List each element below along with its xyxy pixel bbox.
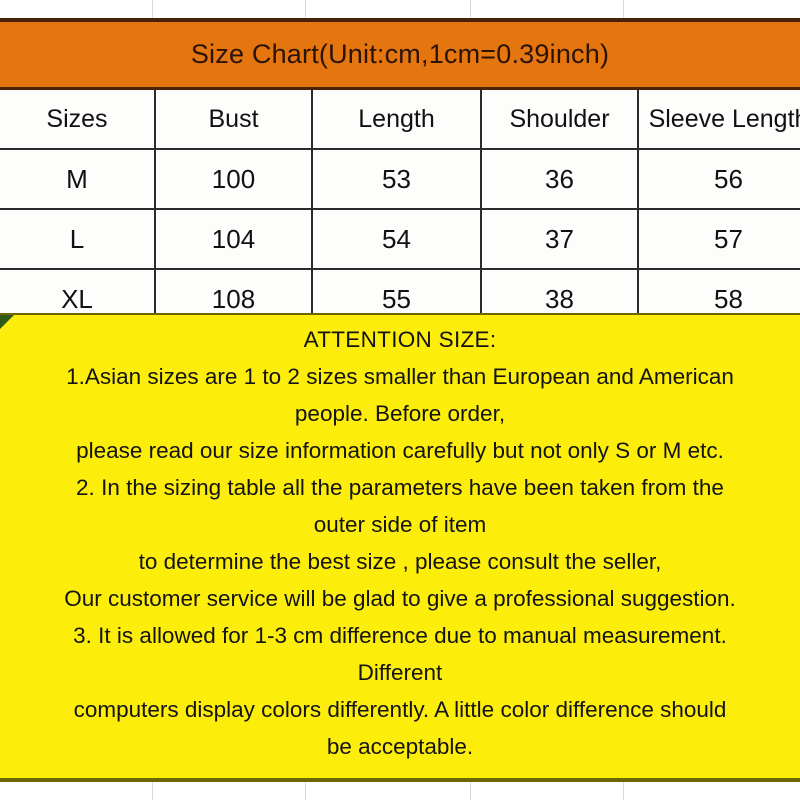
attention-line: to determine the best size , please cons…	[0, 543, 800, 580]
attention-line: please read our size information careful…	[0, 432, 800, 469]
attention-line: 3. It is allowed for 1-3 cm difference d…	[0, 617, 800, 654]
attention-line: people. Before order,	[0, 395, 800, 432]
gridline	[305, 0, 306, 18]
bottom-gridline-strip	[0, 782, 800, 800]
attention-line: 1.Asian sizes are 1 to 2 sizes smaller t…	[0, 358, 800, 395]
column-header-sleeve-length: Sleeve Length	[638, 90, 800, 149]
column-header-bust: Bust	[155, 90, 312, 149]
column-header-length: Length	[312, 90, 481, 149]
size-chart-page: Size Chart(Unit:cm,1cm=0.39inch) Sizes B…	[0, 0, 800, 800]
attention-line: 2. In the sizing table all the parameter…	[0, 469, 800, 506]
size-chart-banner: Size Chart(Unit:cm,1cm=0.39inch)	[0, 18, 800, 90]
table-row: M 100 53 36 56	[0, 149, 800, 209]
column-header-sizes: Sizes	[0, 90, 155, 149]
attention-size-block: ATTENTION SIZE: 1.Asian sizes are 1 to 2…	[0, 313, 800, 782]
cell-sleeve-length: 56	[638, 149, 800, 209]
cell-length: 53	[312, 149, 481, 209]
cell-bust: 104	[155, 209, 312, 269]
cell-bust: 100	[155, 149, 312, 209]
column-header-shoulder: Shoulder	[481, 90, 638, 149]
gridline	[152, 0, 153, 18]
table-header-row: Sizes Bust Length Shoulder Sleeve Length	[0, 90, 800, 149]
cell-size: M	[0, 149, 155, 209]
gridline	[623, 782, 624, 800]
attention-heading: ATTENTION SIZE:	[0, 321, 800, 358]
gridline	[470, 782, 471, 800]
cell-shoulder: 36	[481, 149, 638, 209]
cell-size: L	[0, 209, 155, 269]
gridline	[623, 0, 624, 18]
gridline	[152, 782, 153, 800]
cell-sleeve-length: 57	[638, 209, 800, 269]
attention-line: outer side of item	[0, 506, 800, 543]
attention-line: Our customer service will be glad to giv…	[0, 580, 800, 617]
attention-line: computers display colors differently. A …	[0, 691, 800, 728]
cell-length: 54	[312, 209, 481, 269]
table-row: L 104 54 37 57	[0, 209, 800, 269]
size-chart-title: Size Chart(Unit:cm,1cm=0.39inch)	[191, 39, 609, 70]
top-gridline-strip	[0, 0, 800, 18]
attention-line: Different	[0, 654, 800, 691]
gridline	[305, 782, 306, 800]
cell-shoulder: 37	[481, 209, 638, 269]
size-measurement-table: Sizes Bust Length Shoulder Sleeve Length…	[0, 90, 800, 328]
attention-line: be acceptable.	[0, 728, 800, 765]
gridline	[470, 0, 471, 18]
